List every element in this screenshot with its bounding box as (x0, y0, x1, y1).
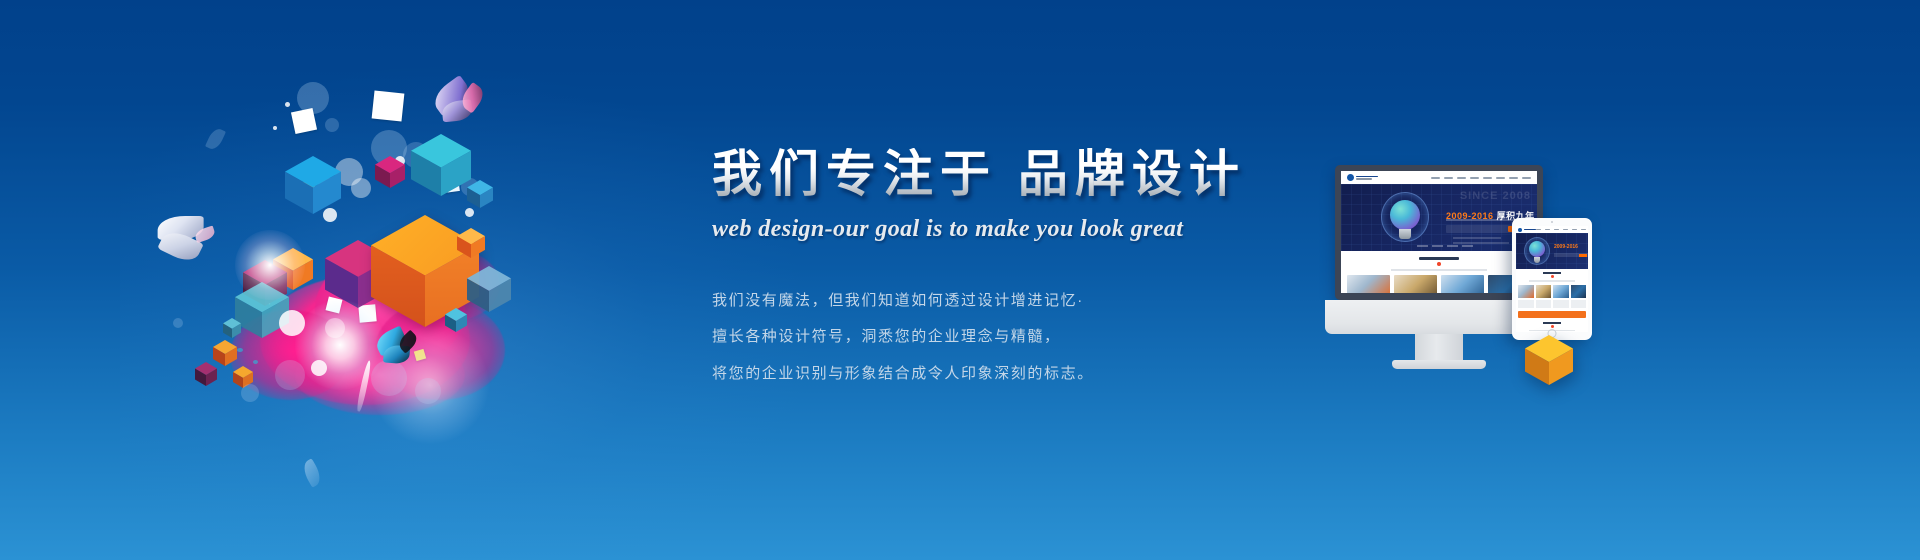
site-navbar (1341, 171, 1537, 184)
cube-falling (223, 318, 241, 338)
caption (1536, 300, 1552, 308)
website-preview: SINCE 2008 2009-2016 厚积九年 (1341, 171, 1537, 293)
page-subtitle: web design-our goal is to make you look … (712, 216, 1272, 243)
logo-mark-icon (1518, 228, 1522, 232)
hero-subline (1446, 219, 1516, 221)
speckle (253, 360, 258, 364)
bubble (351, 178, 371, 198)
caption (1553, 300, 1569, 308)
thumbnail (1441, 275, 1484, 293)
light-glow (235, 230, 305, 300)
tablet-thumbnail-row (1516, 285, 1588, 298)
tablet-section-line (1529, 280, 1575, 282)
thumbnail (1394, 275, 1437, 293)
bubble (415, 378, 441, 404)
hero-slide-dots (1417, 245, 1473, 247)
description-line-1: 我们没有魔法，但我们知道如何透过设计增进记忆· (712, 291, 1272, 311)
caption (1571, 300, 1587, 308)
bubble (173, 318, 183, 328)
tablet-hero-cta (1554, 253, 1588, 257)
monitor-stand-base (1392, 360, 1486, 369)
bubble (311, 360, 327, 376)
tablet-nav-links (1536, 229, 1586, 231)
cube-orange-right (457, 228, 485, 258)
butterfly-cyan-icon (372, 327, 425, 373)
thumbnail (1347, 275, 1390, 293)
monitor-stand-neck (1415, 334, 1463, 362)
monitor-screen: SINCE 2008 2009-2016 厚积九年 (1341, 171, 1537, 293)
section-title-bar (1419, 257, 1459, 260)
thumbnail (1571, 285, 1587, 298)
bulb-base (1399, 229, 1411, 239)
tablet-mockup: 2009-2016 (1512, 218, 1592, 340)
hero-banner: 我们专注于 品牌设计 web design-our goal is to mak… (0, 0, 1920, 560)
cube-slate-right (467, 266, 511, 312)
tablet-section-dot-2 (1551, 325, 1554, 328)
bubble (273, 126, 277, 130)
feather-shape (299, 458, 324, 488)
bubble (279, 310, 305, 336)
logo-wordmark (1356, 176, 1378, 180)
tablet-cta-button (1579, 254, 1587, 257)
thumbnail (1536, 285, 1552, 298)
logo-wordmark (1524, 229, 1536, 231)
orange-3d-cube (1525, 335, 1573, 385)
bulb-base (1534, 257, 1540, 263)
hero-description: 我们没有魔法，但我们知道如何透过设计增进记忆· 擅长各种设计符号，洞悉您的企业理… (712, 291, 1272, 384)
butterfly-purple-icon (426, 76, 494, 137)
confetti-square (372, 91, 405, 122)
tablet-site-logo (1518, 228, 1536, 232)
site-logo (1347, 174, 1378, 181)
site-hero: SINCE 2008 2009-2016 厚积九年 (1341, 184, 1537, 251)
description-line-2: 擅长各种设计符号，洞悉您的企业理念与精髓， (712, 327, 1272, 347)
thumbnail (1518, 285, 1534, 298)
lightbulb-graphic-icon (1524, 237, 1550, 265)
hero-watermark: SINCE 2008 (1460, 190, 1531, 202)
petal-shape (205, 126, 226, 151)
bubble (325, 118, 339, 132)
tablet-section-title-2 (1543, 322, 1561, 324)
logo-mark-icon (1347, 174, 1354, 181)
confetti-square (291, 108, 317, 134)
cube-blue (285, 156, 341, 214)
abstract-artwork (175, 60, 575, 460)
tablet-camera-icon (1551, 221, 1553, 223)
cube-falling (195, 362, 217, 386)
site-body (1341, 251, 1537, 293)
site-nav-links (1431, 177, 1531, 179)
bubble (325, 318, 345, 338)
tablet-caption-row (1516, 300, 1588, 308)
section-accent-dot (1437, 262, 1441, 266)
hero-text-line (1453, 237, 1501, 239)
tablet-section-title (1543, 272, 1561, 274)
page-title: 我们专注于 品牌设计 (712, 148, 1272, 201)
cube-blue-small (467, 180, 493, 208)
thumbnail-row (1347, 275, 1531, 293)
bubble (241, 384, 259, 402)
bubble (285, 102, 290, 107)
tablet-orange-button (1518, 311, 1586, 318)
tablet-hero: 2009-2016 (1516, 233, 1588, 269)
bulb-sphere (1390, 200, 1420, 230)
cube-magenta (375, 156, 405, 188)
tablet-navbar (1516, 226, 1588, 233)
butterfly-pale-icon (151, 212, 231, 276)
hero-text-line (1453, 242, 1509, 244)
tablet-hero-year: 2009-2016 (1554, 244, 1578, 250)
device-mockups: SINCE 2008 2009-2016 厚积九年 (1320, 150, 1600, 400)
speckle (237, 348, 243, 352)
hero-copy: 我们专注于 品牌设计 web design-our goal is to mak… (712, 148, 1272, 400)
thumbnail (1553, 285, 1569, 298)
cube-teal (411, 134, 471, 196)
lightbulb-graphic-icon (1381, 192, 1429, 242)
bubble (275, 360, 305, 390)
description-line-3: 将您的企业识别与形象结合成令人印象深刻的标志。 (712, 364, 1272, 384)
section-subtitle-line (1391, 269, 1487, 271)
tablet-section-dot (1551, 275, 1554, 278)
bulb-sphere (1529, 241, 1545, 257)
caption (1518, 300, 1534, 308)
tablet-screen: 2009-2016 (1516, 226, 1588, 332)
